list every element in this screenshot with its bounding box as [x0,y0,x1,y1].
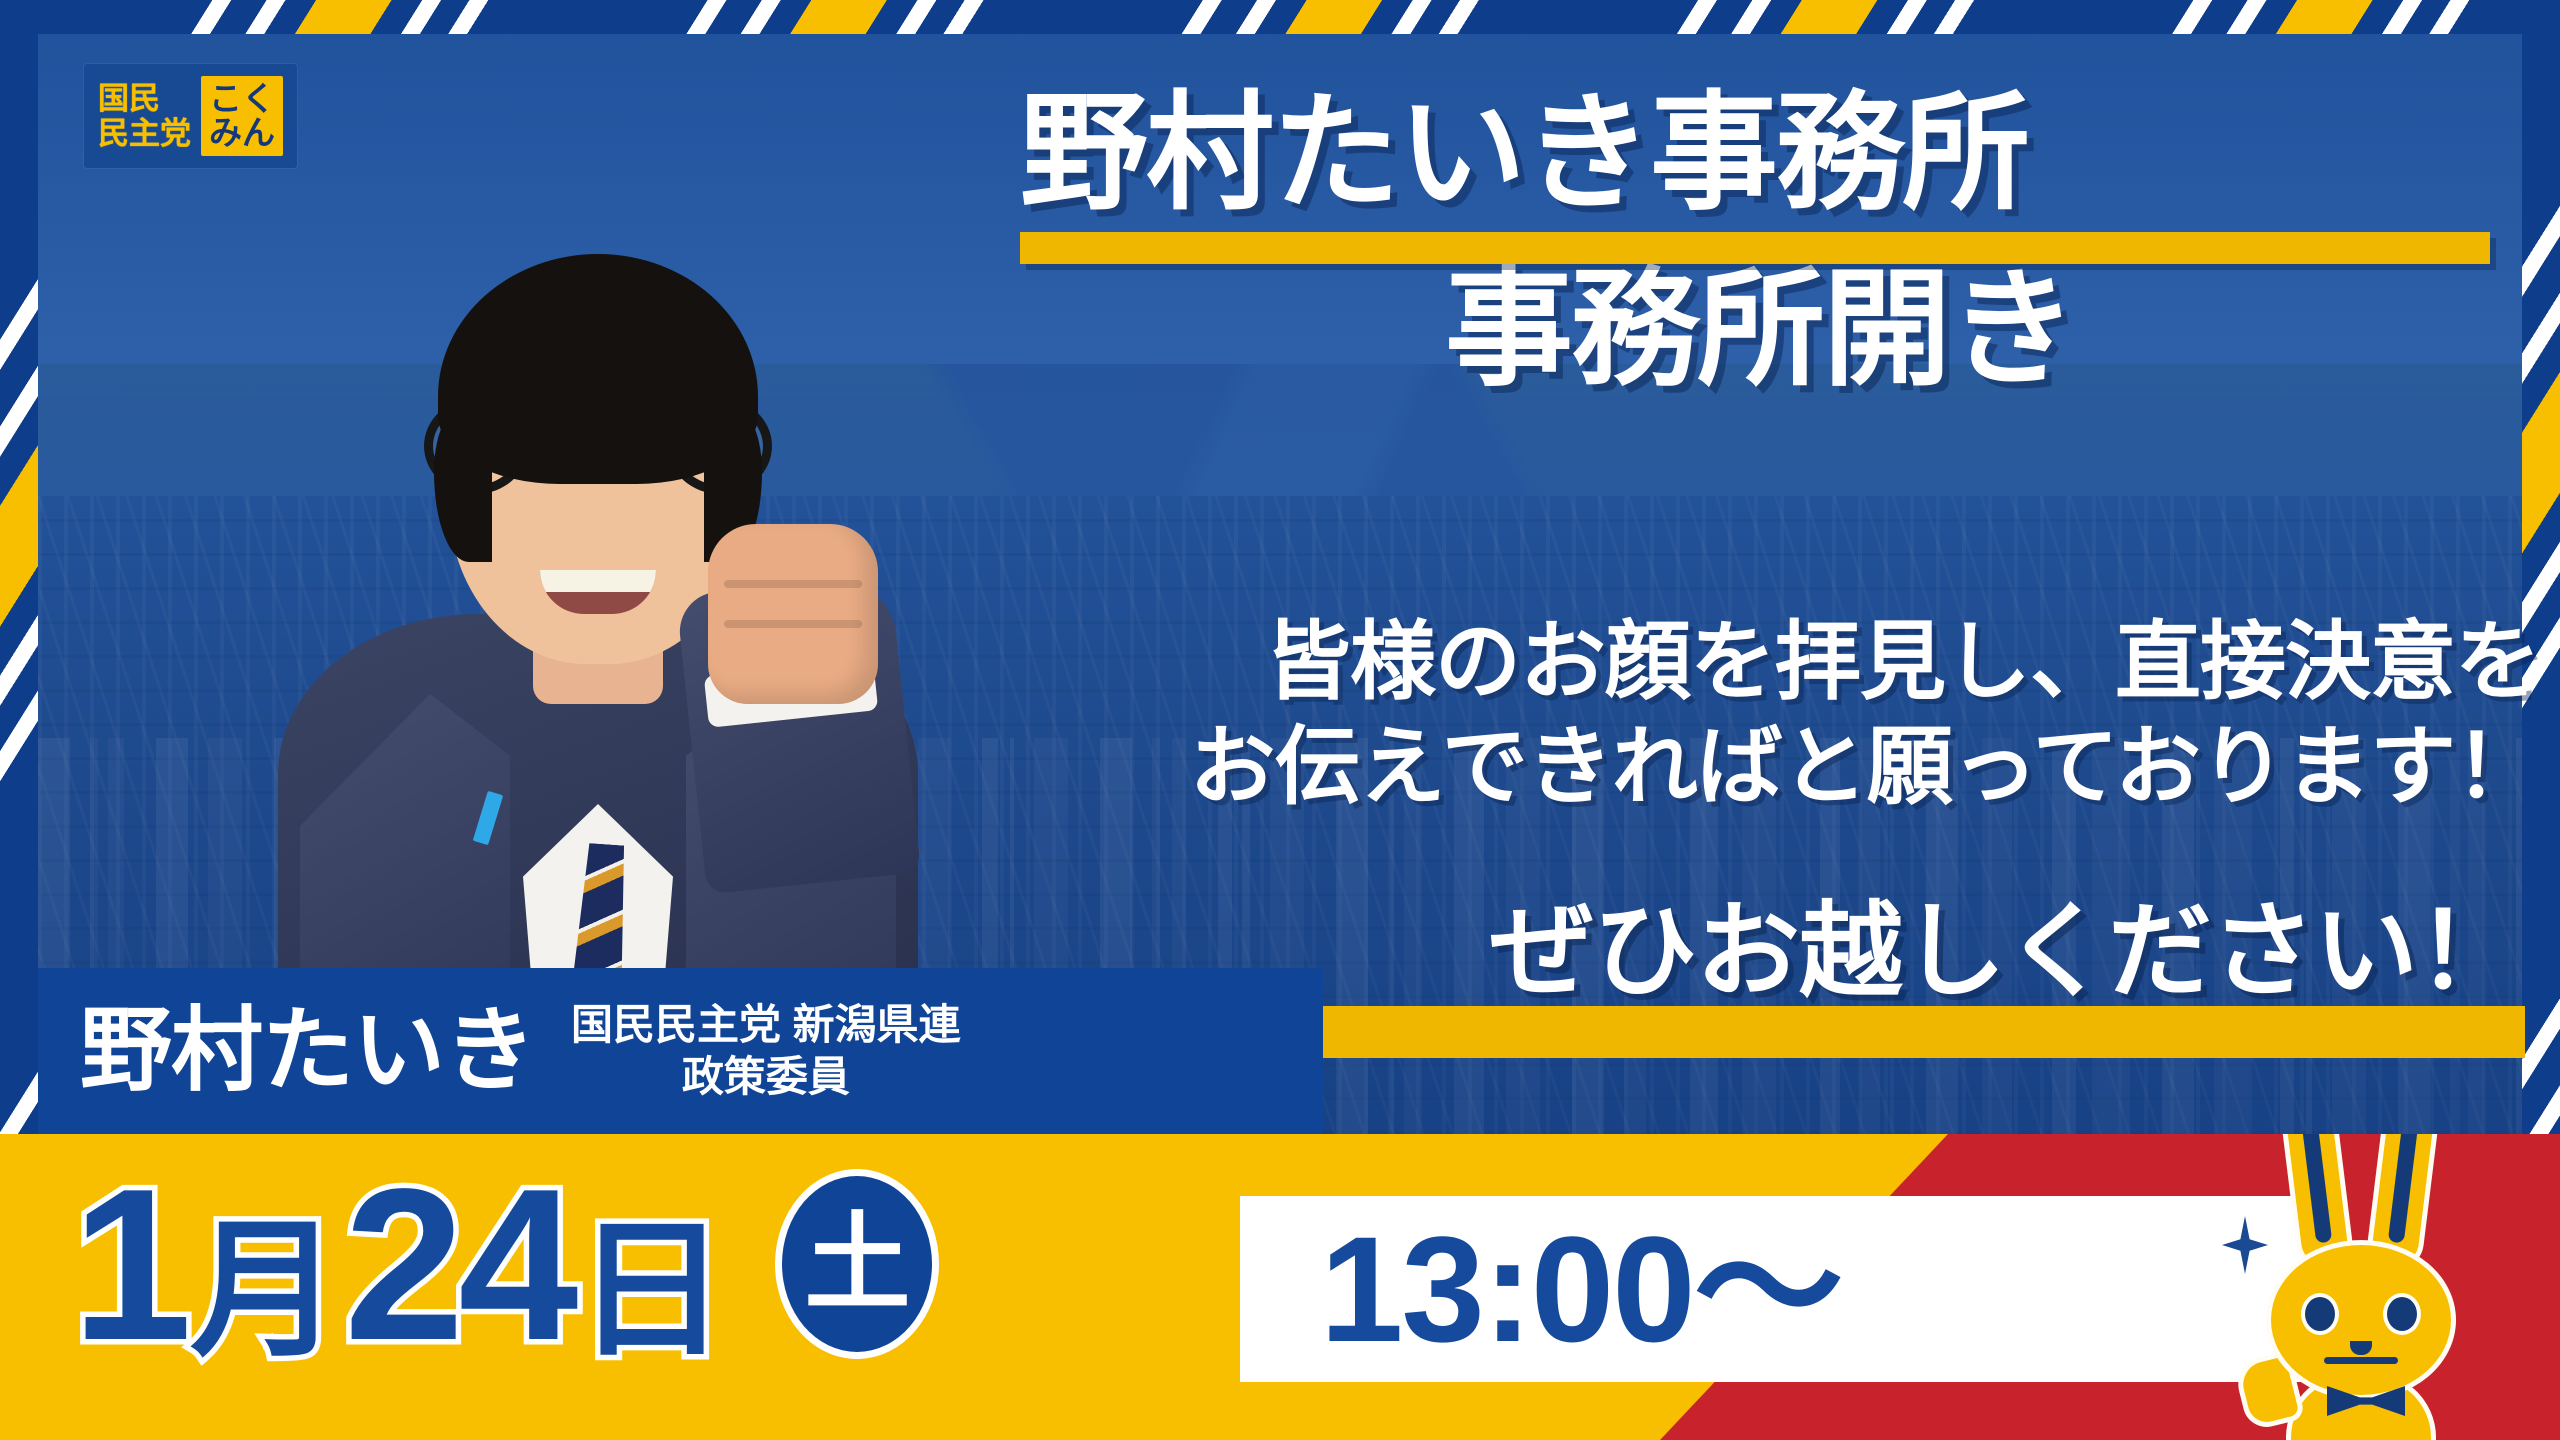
party-logo: 国民 民主党 こく みん [84,64,297,168]
message-block: 皆様のお顔を拝見し、直接決意を お伝えできればと願っております！ [560,610,2540,820]
rabbit-nose [2350,1341,2372,1355]
hair [438,254,758,484]
candidate-name-banner: 野村たいき 国民民主党 新潟県連 政策委員 [38,968,1323,1134]
kokumin-usagi-rabbit-mascot [2236,1134,2496,1440]
cta-highlight-bar [1180,1006,2525,1058]
day-of-week-label: 土 [804,1211,910,1317]
party-logo-kana: こく みん [201,76,283,156]
party-logo-kanji-line2: 民主党 [98,118,191,149]
event-day-number: 24 [344,1156,572,1372]
party-logo-kana-line2: みん [209,116,275,150]
candidate-title-block: 国民民主党 新潟県連 政策委員 [571,1002,961,1100]
rabbit-eye-right [2383,1293,2421,1335]
day-of-week-badge: 土 [782,1176,932,1352]
event-date-group: 1 月 24 日 土 [72,1156,932,1372]
headline-line-1: 野村たいき事務所 [1020,86,2028,222]
event-month-unit: 月 [190,1215,340,1365]
event-datetime-bar: 1 月 24 日 土 13:00〜 [0,1134,2560,1440]
headline-underline-bar [1020,232,2490,264]
event-time-band: 13:00〜 [1240,1196,2338,1382]
event-time: 13:00〜 [1320,1214,1842,1364]
message-line-1: 皆様のお顔を拝見し、直接決意を [560,610,2540,715]
candidate-role: 政策委員 [682,1054,850,1100]
rabbit-eye-left [2301,1293,2339,1335]
party-logo-kanji: 国民 民主党 [98,83,191,149]
event-month-number: 1 [72,1156,186,1372]
message-line-2: お伝えできればと願っております！ [560,715,2540,820]
rabbit-head [2266,1240,2456,1400]
party-logo-kanji-line1: 国民 [98,83,191,114]
rabbit-mouth [2324,1357,2398,1364]
headline-line-2: 事務所開き [1020,262,2500,398]
event-day-unit: 日 [576,1215,726,1365]
candidate-name: 野村たいき [80,1005,535,1097]
party-logo-kana-line1: こく [209,82,275,116]
candidate-affiliation: 国民民主党 新潟県連 [571,1002,961,1048]
campaign-poster: 国民 民主党 こく みん 野村たいき事務所 事務所開き 皆様のお顔を拝見し、直接… [0,0,2560,1440]
